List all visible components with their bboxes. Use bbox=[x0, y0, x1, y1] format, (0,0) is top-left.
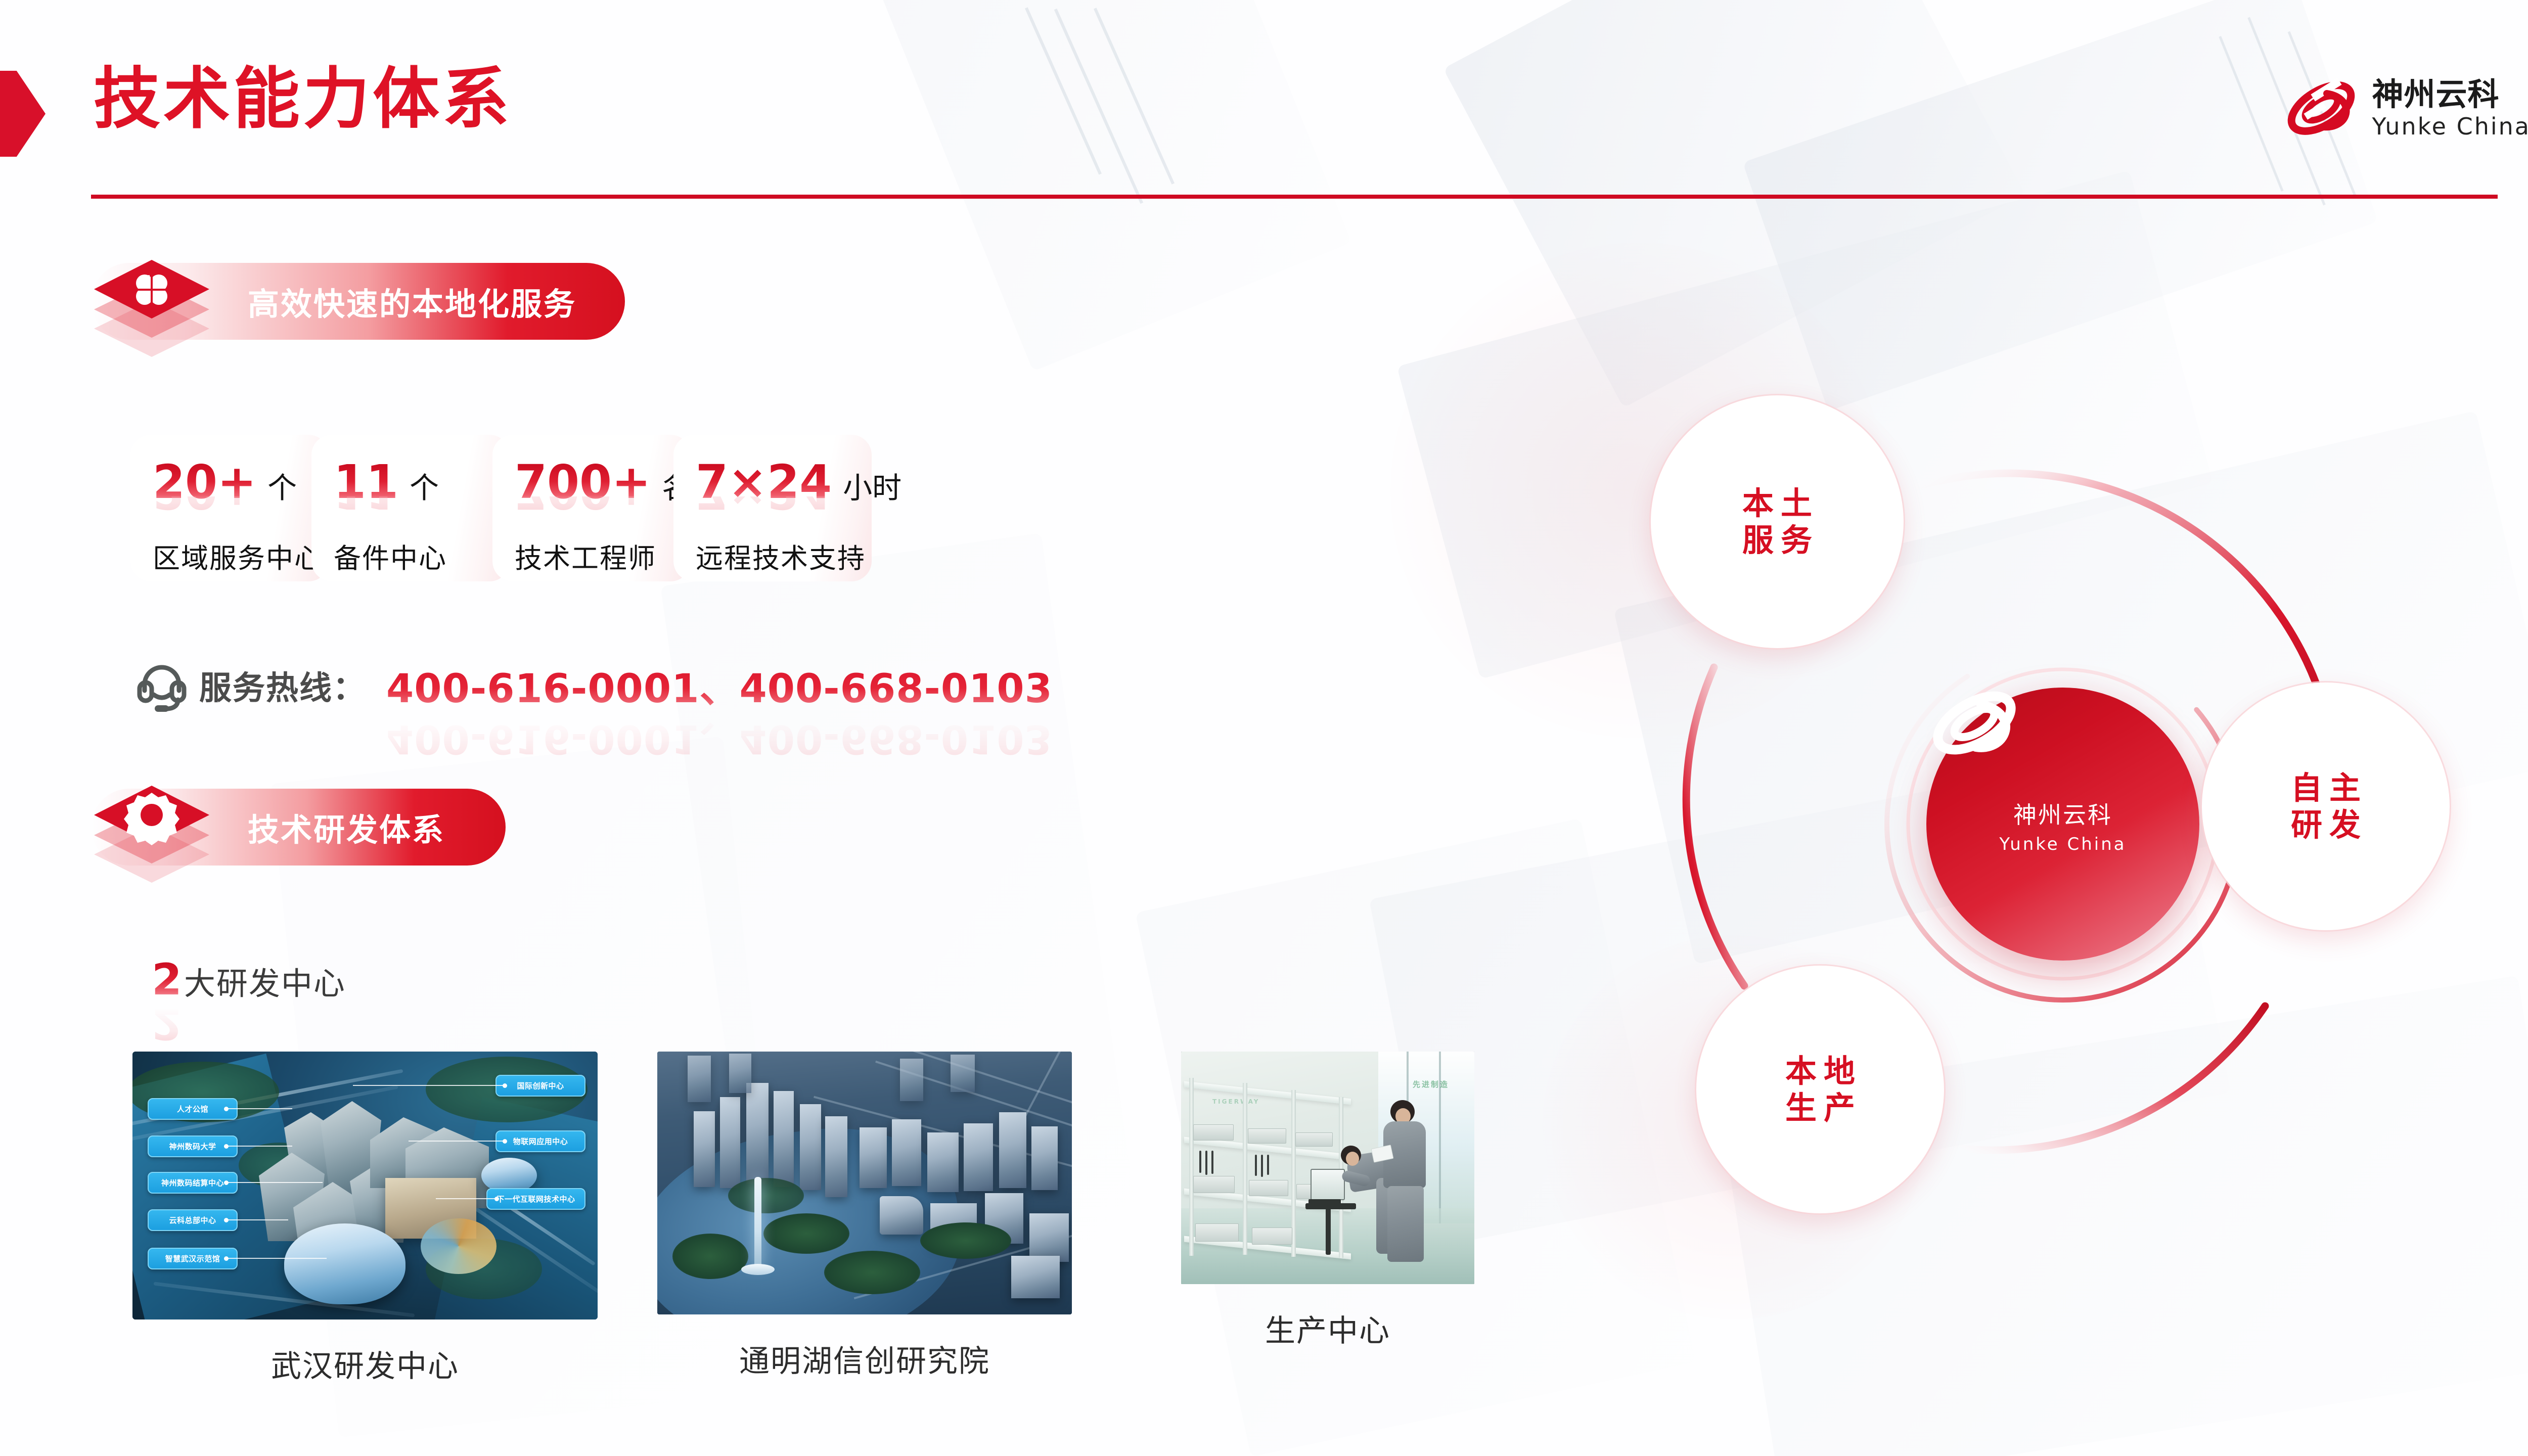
section-pill-rd-system: 技术研发体系 bbox=[91, 789, 506, 866]
orbit-core-name-cn: 神州云科 bbox=[2013, 797, 2112, 830]
orbit-node-local-service[interactable]: 本土 服务 bbox=[1651, 395, 1904, 648]
header-divider-rule bbox=[91, 195, 2498, 199]
stat-cards-row: 20+ 个 20+ 区域服务中心 11 个 11 备件中心 700+ 名 bbox=[130, 435, 872, 581]
section-header-rd-system: 技术研发体系 bbox=[91, 789, 506, 866]
yunke-swirl-logo-icon bbox=[2283, 78, 2359, 138]
orbit-node-independent-rd[interactable]: 自主 研发 bbox=[2202, 682, 2450, 930]
orbit-node-line2: 研发 bbox=[2284, 806, 2368, 843]
rd-count-number: 22 bbox=[152, 958, 182, 1002]
slide-root: 技术能力体系 神州云科 Yunke China bbox=[0, 0, 2528, 1456]
service-hotline: 服务热线： 400-616-0001、400-668-0103400-616-0… bbox=[136, 657, 1053, 714]
stat-value-reflection: 700+ bbox=[515, 496, 691, 519]
stat-card: 11 个 11 备件中心 bbox=[311, 435, 510, 581]
page-title: 技术能力体系 bbox=[94, 66, 512, 132]
section-label-localized-service: 高效快速的本地化服务 bbox=[248, 279, 576, 324]
photo-item[interactable]: 先进制造 TIGERWAY bbox=[1181, 1052, 1474, 1350]
photo-item[interactable]: 人才公馆 神州数码大学 神州数码结算中心 云科总部中心 智慧武汉示范馆 国际创新… bbox=[132, 1052, 598, 1386]
photo-tongminghu-institute bbox=[657, 1052, 1072, 1314]
stat-label: 备件中心 bbox=[334, 536, 510, 576]
yunke-swirl-logo-icon bbox=[1926, 688, 2022, 763]
stat-card: 700+ 名 700+ 技术工程师 bbox=[492, 435, 691, 581]
brand-name-en: Yunke China bbox=[2372, 115, 2528, 138]
stat-label: 远程技术支持 bbox=[696, 536, 872, 576]
photo-production-center: 先进制造 TIGERWAY bbox=[1181, 1052, 1474, 1284]
orbit-node-local-production[interactable]: 本地 生产 bbox=[1696, 966, 1944, 1213]
capability-orbit-diagram: 神州云科 Yunke China 本土 服务 自主 研发 本地 生产 bbox=[1638, 384, 2457, 1244]
photo-caption: 生产中心 bbox=[1265, 1306, 1390, 1350]
clover-diamond-icon bbox=[91, 241, 212, 362]
photo-caption: 通明湖信创研究院 bbox=[739, 1337, 990, 1381]
photo-item[interactable]: 通明湖信创研究院 bbox=[657, 1052, 1072, 1381]
stat-label: 技术工程师 bbox=[515, 536, 691, 576]
section-header-localized-service: 高效快速的本地化服务 bbox=[91, 263, 625, 340]
photo-annotation-chip: 下一代互联网技术中心 bbox=[486, 1188, 585, 1210]
hotline-numbers-reflection: 400-616-0001、400-668-0103 bbox=[386, 714, 1053, 770]
stat-card: 7×24 小时 7×24 远程技术支持 bbox=[673, 435, 872, 581]
brand-name-cn: 神州云科 bbox=[2372, 79, 2528, 110]
title-arrow-marker bbox=[0, 71, 46, 157]
section-pill-localized-service: 高效快速的本地化服务 bbox=[91, 263, 625, 340]
brand-logo: 神州云科 Yunke China bbox=[2283, 78, 2528, 138]
orbit-core-logo-circle: 神州云科 Yunke China bbox=[1926, 688, 2199, 961]
orbit-core-name-en: Yunke China bbox=[1999, 834, 2126, 854]
rd-count-number-reflection: 2 bbox=[152, 1002, 182, 1045]
gear-diamond-icon bbox=[91, 766, 212, 888]
orbit-node-line2: 服务 bbox=[1735, 522, 1819, 559]
rd-photos-row: 人才公馆 神州数码大学 神州数码结算中心 云科总部中心 智慧武汉示范馆 国际创新… bbox=[132, 1052, 1474, 1386]
rd-center-count: 22 大研发中心 bbox=[152, 958, 346, 1004]
stat-value-reflection: 7×24 bbox=[696, 496, 872, 519]
section-label-rd-system: 技术研发体系 bbox=[248, 804, 445, 850]
stat-card: 20+ 个 20+ 区域服务中心 bbox=[130, 435, 329, 581]
stat-value-reflection: 11 bbox=[334, 496, 510, 519]
headset-icon bbox=[136, 659, 188, 712]
orbit-node-line1: 自主 bbox=[2284, 769, 2368, 806]
photo-annotation-chip: 物联网应用中心 bbox=[495, 1130, 585, 1152]
photo-wuhan-rd-center: 人才公馆 神州数码大学 神州数码结算中心 云科总部中心 智慧武汉示范馆 国际创新… bbox=[132, 1052, 598, 1319]
hotline-label: 服务热线： bbox=[199, 662, 366, 709]
orbit-node-line2: 生产 bbox=[1778, 1089, 1862, 1126]
photo-caption: 武汉研发中心 bbox=[271, 1342, 459, 1386]
photo-annotation-chip: 国际创新中心 bbox=[495, 1075, 585, 1097]
stat-value-reflection: 20+ bbox=[153, 496, 329, 519]
orbit-node-line1: 本地 bbox=[1778, 1053, 1862, 1089]
hotline-numbers[interactable]: 400-616-0001、400-668-0103400-616-0001、40… bbox=[386, 657, 1053, 714]
stat-label: 区域服务中心 bbox=[153, 536, 329, 576]
orbit-node-line1: 本土 bbox=[1735, 485, 1819, 522]
rd-count-text: 大研发中心 bbox=[184, 958, 346, 1004]
